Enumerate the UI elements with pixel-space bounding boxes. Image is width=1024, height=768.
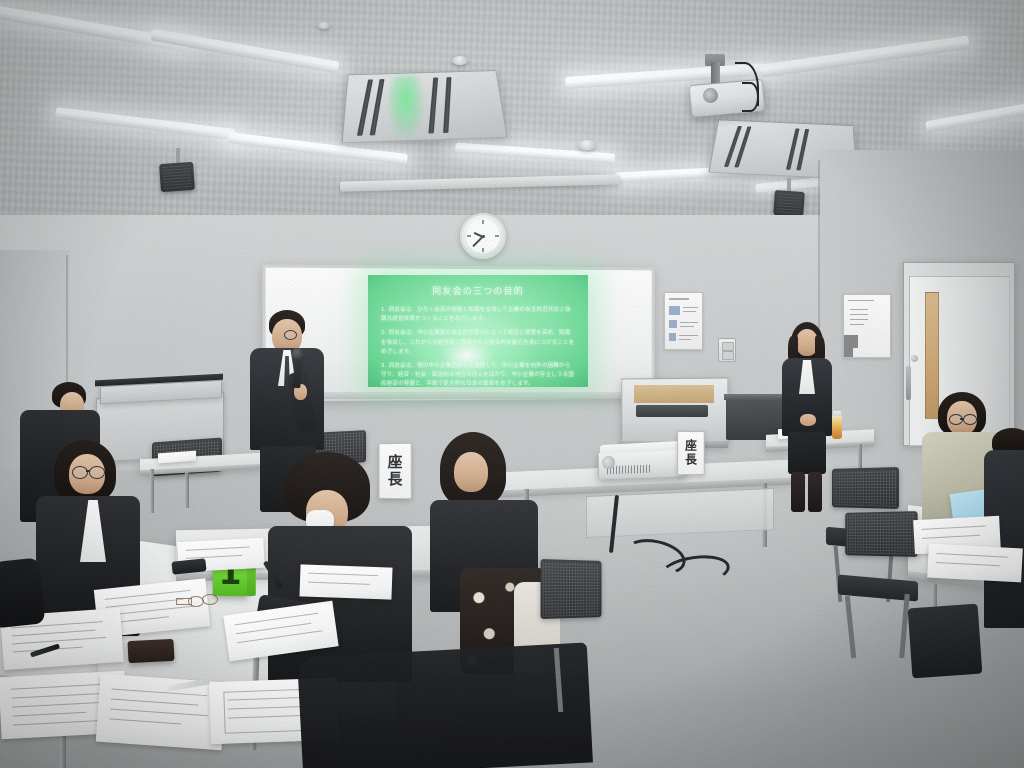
microphone-head bbox=[292, 348, 303, 359]
projector-cable-2 bbox=[742, 82, 759, 112]
left-glasses-bridge bbox=[86, 470, 90, 472]
light-switch-panel[interactable] bbox=[718, 338, 736, 362]
worksheet-right-2 bbox=[927, 544, 1023, 583]
foreground-bag bbox=[0, 557, 45, 628]
slide-item-3: 3. 同友会は、他の中小企業団体とも連携して、中小企業を内外の困難から守り、経済… bbox=[381, 362, 575, 387]
smoke-detector-2 bbox=[578, 140, 596, 150]
right-sweater-glasses-2 bbox=[963, 414, 977, 425]
table-projector-lens bbox=[602, 456, 615, 469]
pencil-case bbox=[127, 639, 174, 663]
wall-speaker-right bbox=[773, 190, 805, 217]
wall-notice-center bbox=[664, 292, 703, 350]
projection-screen: 同友会の三つの目的 1. 同友会は、ひろく会員の経験と知識を交流して企業の自主的… bbox=[368, 275, 588, 387]
chair-leg-left-1 bbox=[185, 470, 189, 508]
facilitator-boots-2 bbox=[808, 472, 822, 512]
av-cabinet-slot bbox=[636, 405, 708, 417]
right-sweater-bridge bbox=[960, 418, 964, 420]
slide-item-2: 2. 同友会は、中小企業家の自主的な努力によって相互に資質を高め、知識を吸収し、… bbox=[381, 329, 575, 357]
door-handle[interactable] bbox=[906, 366, 911, 400]
left-glasses-spectacles bbox=[72, 466, 88, 479]
wall-notice-right bbox=[843, 294, 891, 358]
facilitator-hands bbox=[800, 414, 816, 426]
slide-item-1: 1. 同友会は、ひろく会員の経験と知識を交流して企業の自主的近代化と強靱な経営体… bbox=[381, 306, 575, 324]
center-right-head bbox=[454, 452, 488, 492]
projector-ceiling-arm bbox=[711, 62, 720, 84]
facilitator-boots bbox=[791, 472, 805, 512]
speaker-bracket-left bbox=[176, 148, 180, 164]
smoke-detector-3 bbox=[318, 22, 330, 29]
placard-chair-right-text: 座長 bbox=[683, 439, 700, 467]
wall-speaker-left bbox=[159, 162, 195, 192]
presenter-glasses bbox=[284, 330, 297, 340]
clock-center bbox=[482, 235, 485, 238]
slide-body: 1. 同友会は、ひろく会員の経験と知識を交流して企業の自主的近代化と強靱な経営体… bbox=[368, 297, 588, 387]
av-cabinet-shelf bbox=[634, 385, 714, 403]
worksheet-4 bbox=[96, 674, 226, 751]
ceiling-projector-lens bbox=[703, 88, 718, 103]
left-glasses-spectacles-2 bbox=[89, 466, 105, 479]
placard-chair-right: 座長 bbox=[677, 431, 705, 475]
foreground-coat-right bbox=[297, 642, 593, 768]
chair-right-1[interactable] bbox=[832, 467, 899, 509]
bag-under-right-table bbox=[908, 604, 983, 679]
ac-vent-center bbox=[341, 70, 507, 143]
chair-center-right[interactable] bbox=[541, 559, 602, 619]
facilitator-skirt bbox=[788, 432, 826, 474]
wall-clock bbox=[460, 213, 506, 259]
participant-center-right bbox=[428, 432, 558, 672]
standing-facilitator bbox=[775, 322, 841, 512]
seminar-room-photo: 同友会の三つの目的 1. 同友会は、ひろく会員の経験と知識を交流して企業の自主的… bbox=[0, 0, 1024, 768]
smoke-detector-1 bbox=[452, 56, 468, 65]
worksheet-9 bbox=[299, 564, 392, 599]
chair-right-2[interactable] bbox=[845, 511, 917, 557]
door-lock[interactable] bbox=[911, 355, 918, 362]
reading-glasses-temple bbox=[176, 598, 192, 605]
reading-glasses-lens-r bbox=[202, 594, 218, 605]
slide-title: 同友会の三つの目的 bbox=[368, 284, 588, 297]
